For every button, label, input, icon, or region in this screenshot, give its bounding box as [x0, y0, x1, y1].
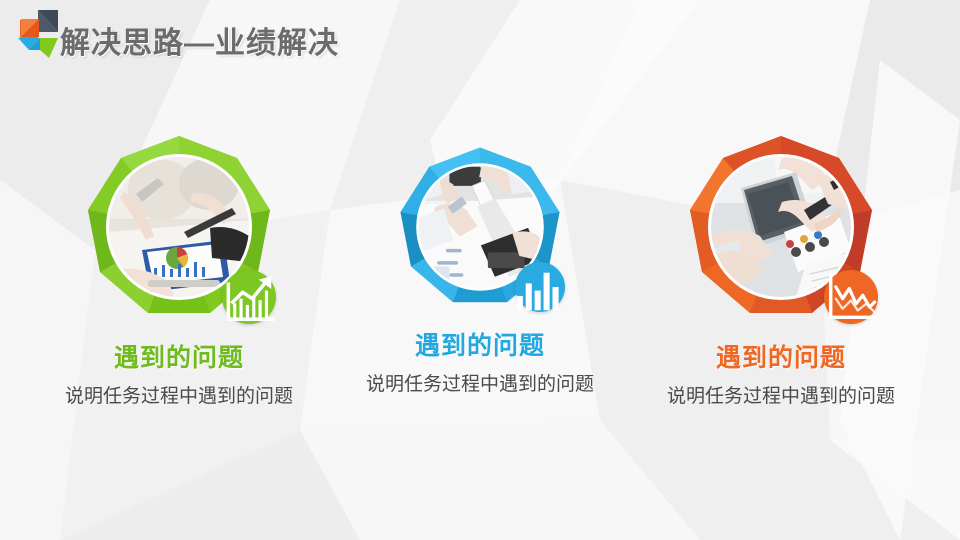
column-body: 说明任务过程中遇到的问题: [54, 383, 304, 411]
medallion-frame[interactable]: [84, 132, 274, 322]
medallion-frame[interactable]: [397, 144, 563, 310]
page-title: 解决思路—业绩解决: [60, 18, 339, 62]
bar-chart-growth-icon: [222, 270, 276, 324]
column-title: 遇到的问题: [114, 338, 244, 374]
column-item: 遇到的问题 说明任务过程中遇到的问题: [335, 132, 625, 492]
tangram-logo-icon: [18, 10, 60, 60]
badge-bar-chart-growth-icon: [222, 270, 276, 324]
column-title: 遇到的问题: [716, 338, 846, 374]
column-item: 遇到的问题 说明任务过程中遇到的问题: [636, 132, 926, 492]
medallion-frame[interactable]: [686, 132, 876, 322]
slide-canvas: 解决思路—业绩解决: [0, 0, 960, 540]
badge-bar-chart-icon: [515, 262, 565, 312]
column-item: 遇到的问题 说明任务过程中遇到的问题: [34, 132, 324, 492]
badge-line-chart-decline-icon: [824, 270, 878, 324]
slide-header: 解决思路—业绩解决: [0, 0, 960, 70]
column-body: 说明任务过程中遇到的问题: [355, 371, 605, 399]
line-chart-decline-icon: [824, 270, 878, 324]
content-columns: 遇到的问题 说明任务过程中遇到的问题: [0, 132, 960, 492]
column-body: 说明任务过程中遇到的问题: [656, 383, 906, 411]
bar-chart-icon: [515, 262, 565, 312]
column-title: 遇到的问题: [415, 326, 545, 362]
